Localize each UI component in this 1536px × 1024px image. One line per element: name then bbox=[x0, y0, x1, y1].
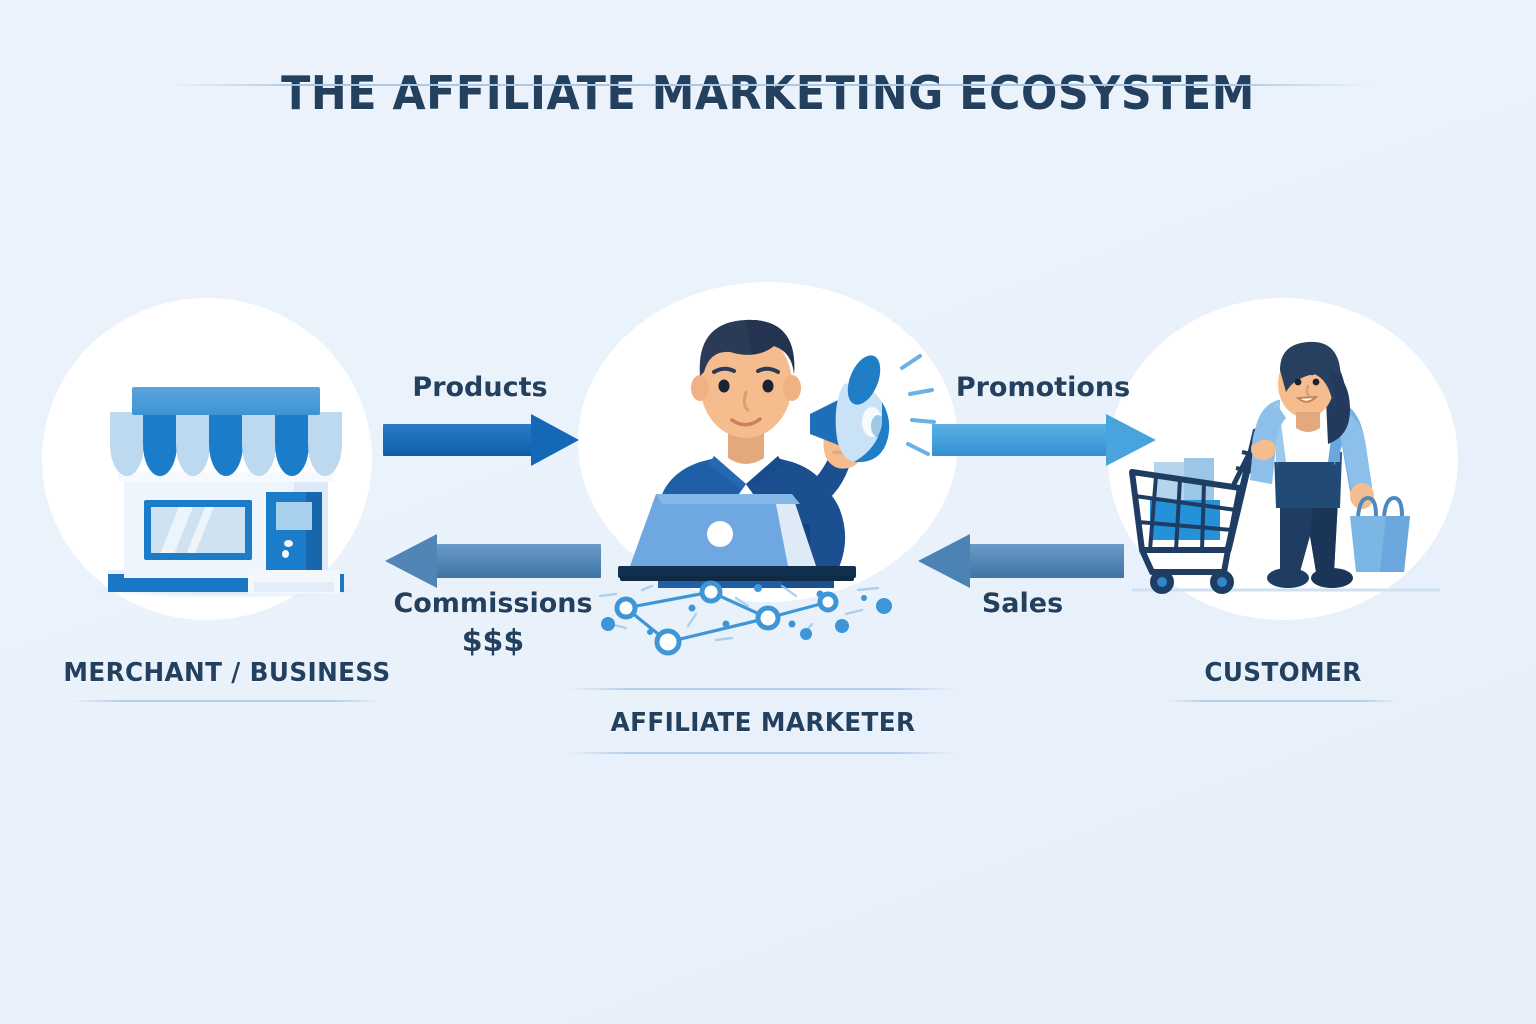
commissions-arrow-shaft bbox=[435, 544, 601, 578]
promotions-arrow-head bbox=[1106, 414, 1156, 466]
shopping-bag-icon bbox=[1350, 498, 1410, 572]
products-arrow-shaft bbox=[383, 424, 533, 456]
commissions-amount-label: $$$ bbox=[378, 624, 608, 659]
sales-arrow-head bbox=[918, 534, 970, 588]
customer-label-rule bbox=[1168, 700, 1398, 702]
products-arrow-head bbox=[531, 414, 579, 466]
page-title: THE AFFILIATE MARKETING ECOSYSTEM bbox=[54, 66, 1482, 120]
flow-commissions[interactable] bbox=[385, 544, 601, 578]
title-block: THE AFFILIATE MARKETING ECOSYSTEM bbox=[0, 66, 1536, 120]
flow-promotions[interactable] bbox=[932, 424, 1156, 456]
flow-sales[interactable] bbox=[918, 544, 1124, 578]
network-graph-icon bbox=[596, 580, 936, 660]
title-divider bbox=[165, 84, 1371, 86]
storefront-door-glass bbox=[276, 502, 312, 530]
affiliate-label: AFFILIATE MARKETER bbox=[578, 708, 949, 738]
affiliate-label-rule-top bbox=[568, 688, 958, 690]
merchant-label: MERCHANT / BUSINESS bbox=[51, 658, 403, 688]
sales-label: Sales bbox=[915, 588, 1130, 619]
door-handle-accent-icon bbox=[282, 550, 289, 558]
infographic-canvas: THE AFFILIATE MARKETING ECOSYSTEM bbox=[0, 0, 1536, 1024]
sound-waves-icon bbox=[902, 356, 934, 454]
storefront-roof-band bbox=[132, 387, 320, 415]
storefront-awning bbox=[110, 412, 342, 478]
storefront-window-glass bbox=[151, 507, 245, 553]
marketer-illustration-svg bbox=[596, 298, 944, 588]
storefront-icon bbox=[96, 382, 356, 612]
marketer-with-megaphone-icon bbox=[596, 298, 944, 588]
commissions-arrow-head bbox=[385, 534, 437, 588]
merchant-label-rule bbox=[72, 700, 382, 702]
storefront-stoop-lip bbox=[254, 582, 334, 592]
door-handle-icon bbox=[284, 540, 293, 547]
sales-arrow-shaft bbox=[968, 544, 1124, 578]
customer-label: CUSTOMER bbox=[1126, 658, 1440, 688]
promotions-arrow-shaft bbox=[932, 424, 1108, 456]
products-label: Products bbox=[365, 372, 595, 403]
affiliate-label-rule-bottom bbox=[568, 752, 958, 754]
customer-illustration-svg bbox=[1128, 340, 1448, 620]
commissions-label: Commissions bbox=[378, 588, 608, 619]
promotions-label: Promotions bbox=[928, 372, 1158, 403]
flow-products[interactable] bbox=[383, 424, 579, 456]
shopper-with-cart-icon bbox=[1128, 340, 1448, 620]
